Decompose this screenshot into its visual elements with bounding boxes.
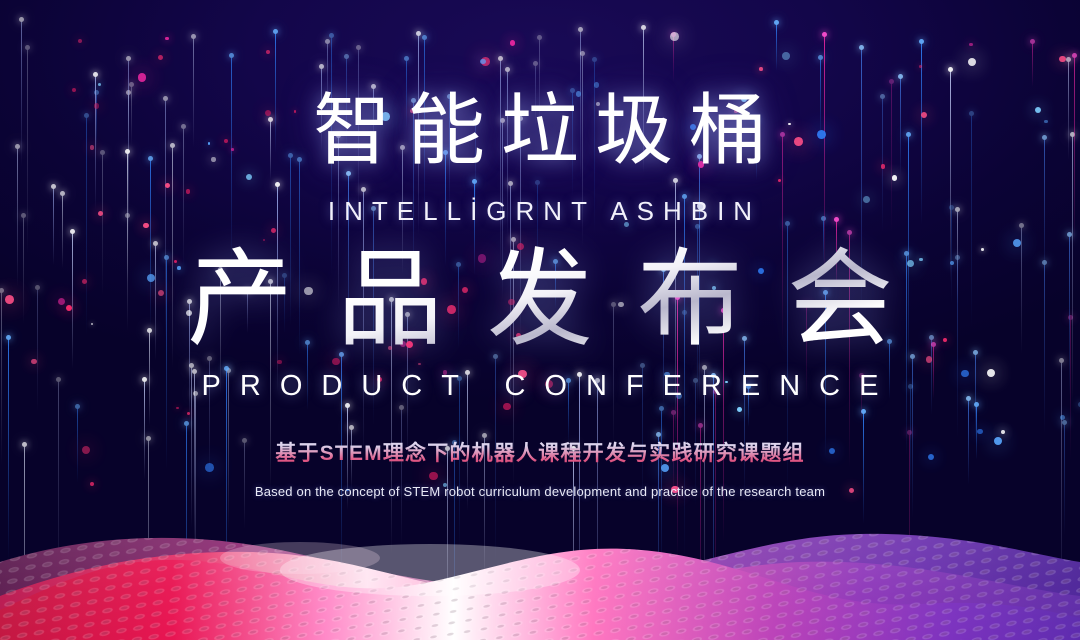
headline-chinese: 产品发布会 (143, 245, 937, 356)
poster-canvas: 智能垃圾桶 INTELLİGRNT ASHBIN 产品发布会 PRODUCT C… (0, 0, 1080, 640)
headline-english: PRODUCT CONFERENCE (183, 370, 898, 403)
subtitle-english: INTELLİGRNT ASHBIN (319, 196, 761, 227)
poster-content: 智能垃圾桶 INTELLİGRNT ASHBIN 产品发布会 PRODUCT C… (0, 0, 1080, 640)
tagline-chinese: 基于STEM理念下的机器人课程开发与实践研究课题组 (275, 437, 804, 467)
tagline-english: Based on the concept of STEM robot curri… (255, 484, 825, 499)
page-title: 智能垃圾桶 (297, 92, 783, 170)
